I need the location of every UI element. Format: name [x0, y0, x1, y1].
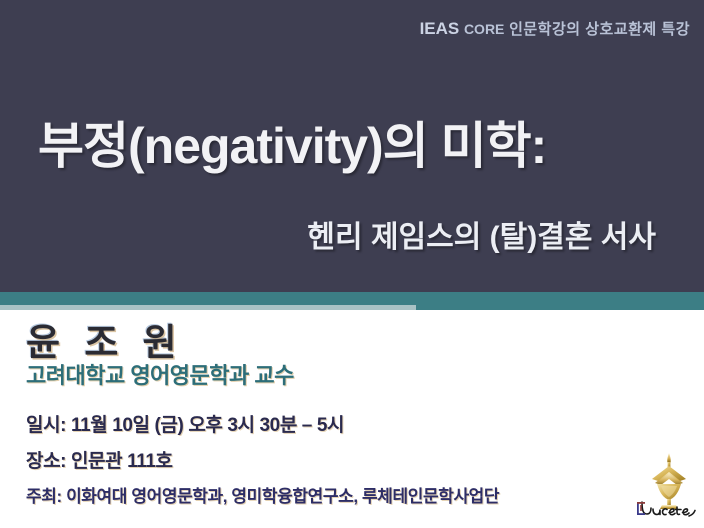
- poster-title: 부정(negativity)의 미학:: [38, 106, 546, 178]
- event-organizer: 주최: 이화여대 영어영문학과, 영미학융합연구소, 루체테인문학사업단: [26, 482, 499, 507]
- lecture-poster: IEAS CORE 인문학강의 상호교환제 특강 부정(negativity)의…: [0, 0, 704, 528]
- event-datetime: 일시: 11월 10일 (금) 오후 3시 30분 – 5시: [26, 410, 499, 437]
- event-details: 일시: 11월 10일 (금) 오후 3시 30분 – 5시 장소: 인문관 1…: [26, 410, 499, 507]
- poster-header-panel: IEAS CORE 인문학강의 상호교환제 특강 부정(negativity)의…: [0, 0, 704, 292]
- eyebrow-program-label: CORE: [464, 21, 504, 37]
- lucete-logo: [636, 452, 702, 524]
- poster-subtitle: 헨리 제임스의 (탈)결혼 서사: [0, 212, 656, 256]
- eyebrow-text-label: 인문학강의 상호교환제 특강: [509, 21, 690, 38]
- lamp-flame-icon: [667, 453, 670, 467]
- event-venue: 장소: 인문관 111호: [26, 446, 499, 473]
- speaker-affiliation: 고려대학교 영어영문학과 교수: [26, 358, 294, 390]
- program-eyebrow: IEAS CORE 인문학강의 상호교환제 특강: [420, 18, 690, 39]
- lamp-body-icon: [652, 466, 686, 509]
- eyebrow-org-label: IEAS: [420, 19, 460, 38]
